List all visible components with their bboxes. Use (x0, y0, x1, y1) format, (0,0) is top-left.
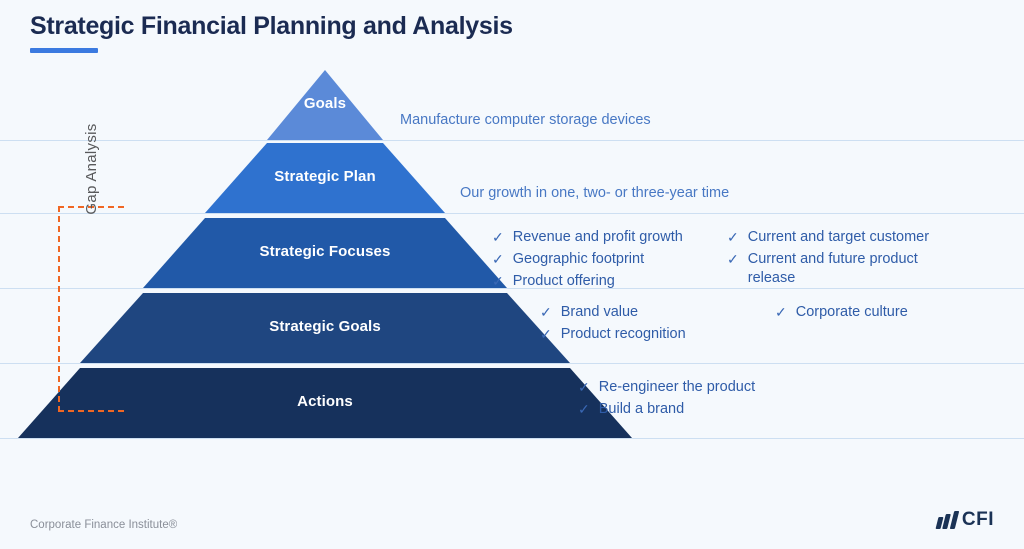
pyramid-tier-label: Strategic Goals (125, 318, 525, 335)
checklist-item: ✓Geographic footprint (492, 250, 727, 269)
tier-checklist: ✓Revenue and profit growth✓Geographic fo… (492, 228, 957, 294)
tier-separator (0, 363, 1024, 364)
tier-checklist: ✓Re-engineer the product✓Build a brand (578, 378, 1024, 422)
checklist-column-2: ✓Corporate culture (775, 303, 1005, 347)
pyramid-tier-content-5: ✓Re-engineer the product✓Build a brand (578, 378, 1024, 422)
checklist-item: ✓Brand value (540, 303, 775, 322)
tier-separator (0, 140, 1024, 141)
checklist-column-1: ✓Re-engineer the product✓Build a brand (578, 378, 813, 422)
tier-description: Manufacture computer storage devices (400, 112, 651, 128)
checklist-item-label: Geographic footprint (513, 250, 644, 269)
checklist-item-label: Current and future product release (748, 250, 957, 288)
checkmark-icon: ✓ (578, 400, 590, 419)
checklist-item-label: Build a brand (599, 400, 684, 419)
pyramid-tier-2[interactable]: Strategic Plan (0, 143, 1024, 213)
pyramid-tier-label: Goals (125, 95, 525, 112)
checklist-item: ✓Build a brand (578, 400, 813, 419)
header: Strategic Financial Planning and Analysi… (30, 12, 513, 53)
checklist-column-1: ✓Revenue and profit growth✓Geographic fo… (492, 228, 727, 294)
cfi-logo: CFI (937, 509, 994, 531)
pyramid-tier-label: Actions (125, 393, 525, 410)
title-accent-underline (30, 48, 98, 53)
checklist-item-label: Product recognition (561, 325, 686, 344)
pyramid-tier-1[interactable]: Goals (0, 70, 1024, 140)
checklist-item-label: Revenue and profit growth (513, 228, 683, 247)
checklist-item-label: Brand value (561, 303, 638, 322)
pyramid-tier-content-3: ✓Revenue and profit growth✓Geographic fo… (492, 228, 957, 294)
tier-checklist: ✓Brand value✓Product recognition✓Corpora… (540, 303, 1005, 347)
pyramid-tier-label: Strategic Focuses (125, 243, 525, 260)
checkmark-icon: ✓ (727, 228, 739, 247)
checkmark-icon: ✓ (727, 250, 739, 269)
checklist-item: ✓Product offering (492, 272, 727, 291)
pyramid-tier-content-2: Our growth in one, two- or three-year ti… (460, 185, 729, 201)
checklist-item: ✓Revenue and profit growth (492, 228, 727, 247)
checkmark-icon: ✓ (492, 272, 504, 291)
checklist-item: ✓Current and future product release (727, 250, 957, 288)
tier-separator (0, 213, 1024, 214)
checklist-column-1: ✓Brand value✓Product recognition (540, 303, 775, 347)
checklist-item: ✓Product recognition (540, 325, 775, 344)
checklist-item: ✓Re-engineer the product (578, 378, 813, 397)
pyramid-tier-content-4: ✓Brand value✓Product recognition✓Corpora… (540, 303, 1005, 347)
checkmark-icon: ✓ (578, 378, 590, 397)
cfi-logo-mark-icon (937, 511, 957, 529)
checkmark-icon: ✓ (540, 325, 552, 344)
pyramid-diagram: GoalsManufacture computer storage device… (0, 60, 1024, 500)
tier-description: Our growth in one, two- or three-year ti… (460, 185, 729, 201)
page-title: Strategic Financial Planning and Analysi… (30, 12, 513, 41)
checkmark-icon: ✓ (775, 303, 787, 322)
gap-analysis-label: Gap Analysis (58, 66, 124, 272)
checklist-item-label: Corporate culture (796, 303, 908, 322)
checkmark-icon: ✓ (492, 228, 504, 247)
checklist-item-label: Re-engineer the product (599, 378, 755, 397)
checklist-item: ✓Corporate culture (775, 303, 1005, 322)
checkmark-icon: ✓ (540, 303, 552, 322)
checklist-column-2 (813, 378, 1024, 422)
checklist-item-label: Product offering (513, 272, 615, 291)
checkmark-icon: ✓ (492, 250, 504, 269)
tier-separator (0, 438, 1024, 439)
pyramid-tier-content-1: Manufacture computer storage devices (400, 112, 651, 128)
footer-attribution: Corporate Finance Institute® (30, 519, 177, 531)
checklist-column-2: ✓Current and target customer✓Current and… (727, 228, 957, 294)
pyramid-tier-label: Strategic Plan (125, 168, 525, 185)
checklist-item-label: Current and target customer (748, 228, 929, 247)
checklist-item: ✓Current and target customer (727, 228, 957, 247)
cfi-logo-text: CFI (962, 509, 994, 531)
